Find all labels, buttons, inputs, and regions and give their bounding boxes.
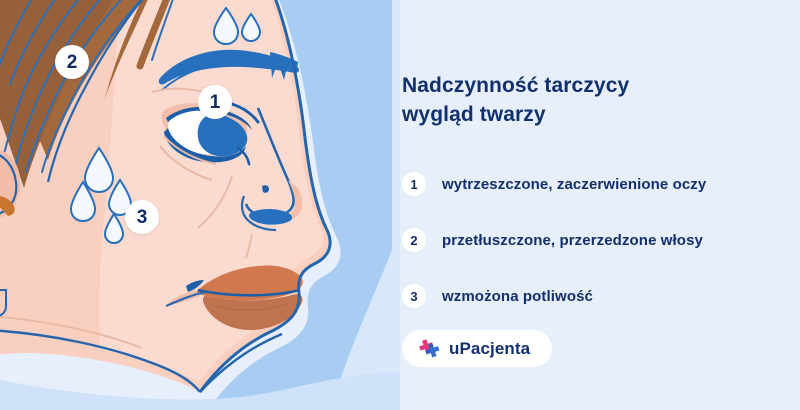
list-item-number: 2 bbox=[402, 228, 426, 252]
page-title-line-2: wygląd twarzy bbox=[402, 101, 782, 130]
text-panel: Nadczynność tarczycy wygląd twarzy 1 wyt… bbox=[398, 0, 800, 410]
list-item-number: 3 bbox=[402, 284, 426, 308]
page-title: Nadczynność tarczycy wygląd twarzy bbox=[402, 72, 782, 130]
list-item: 3 wzmożona potliwość bbox=[402, 272, 794, 320]
symptom-list: 1 wytrzeszczone, zaczerwienione oczy 2 p… bbox=[402, 160, 794, 328]
list-item-label: wytrzeszczone, zaczerwienione oczy bbox=[442, 176, 706, 193]
list-item-number: 1 bbox=[402, 172, 426, 196]
list-item-label: przetłuszczone, przerzedzone włosy bbox=[442, 232, 703, 249]
callout-badge-3[interactable]: 3 bbox=[125, 200, 159, 234]
callout-badge-1[interactable]: 1 bbox=[198, 85, 232, 119]
face-illustration: 1 2 3 bbox=[0, 0, 400, 410]
list-item: 1 wytrzeszczone, zaczerwienione oczy bbox=[402, 160, 794, 208]
infographic-canvas: 1 2 3 Nadczynność tarczycy wygląd twarzy… bbox=[0, 0, 800, 410]
callout-badge-2[interactable]: 2 bbox=[55, 45, 89, 79]
page-title-line-1: Nadczynność tarczycy bbox=[402, 72, 782, 101]
upacjenta-wordmark: uPacjenta bbox=[449, 340, 530, 357]
nose-mole bbox=[262, 185, 269, 193]
list-item: 2 przetłuszczone, przerzedzone włosy bbox=[402, 216, 794, 264]
list-item-label: wzmożona potliwość bbox=[442, 288, 593, 305]
upacjenta-logo[interactable]: uPacjenta bbox=[402, 330, 552, 367]
upacjenta-cross-logo-icon bbox=[418, 338, 440, 360]
